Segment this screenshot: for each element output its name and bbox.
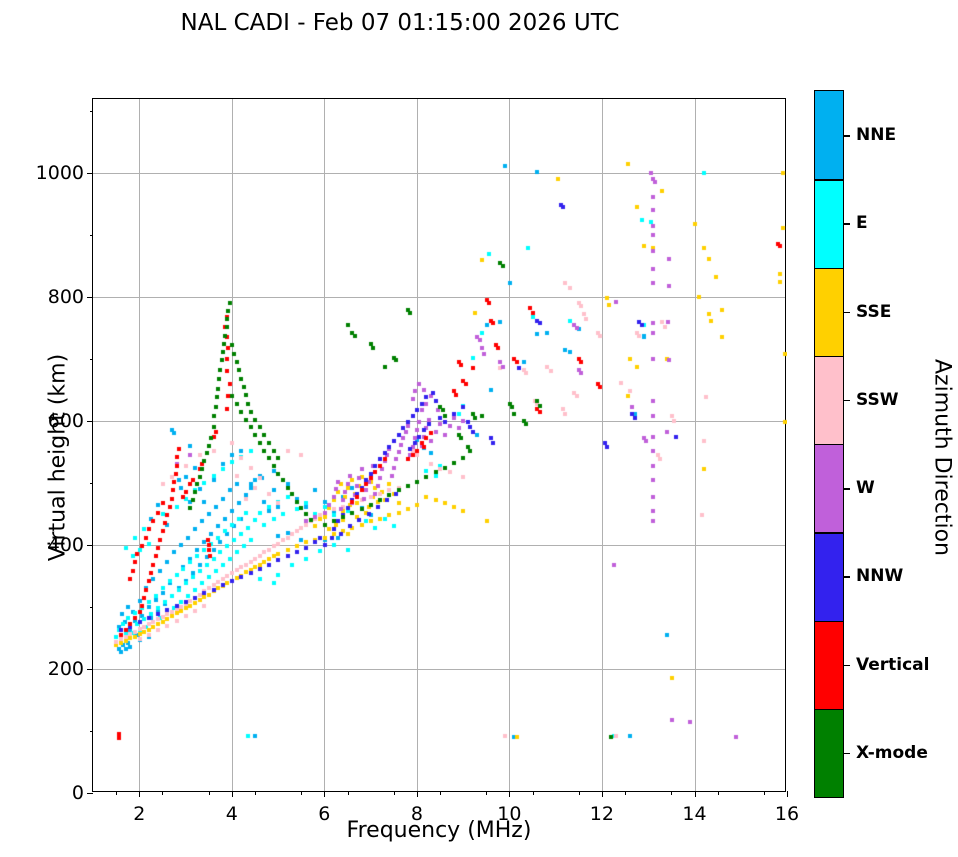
y-tick-label: 800	[48, 286, 84, 308]
x-tick-major	[695, 791, 696, 797]
x-tick-minor	[162, 791, 163, 795]
colorbar-segment-x-mode[interactable]	[815, 709, 843, 797]
colorbar-label-vertical: Vertical	[856, 655, 929, 675]
colorbar-tick	[843, 665, 850, 666]
colorbar-tick	[843, 400, 850, 401]
colorbar-tick	[843, 576, 850, 577]
y-tick-minor	[90, 607, 94, 608]
colorbar-label-ssw: SSW	[856, 390, 898, 410]
y-tick-minor	[90, 111, 94, 112]
x-tick-major	[232, 791, 233, 797]
colorbar-tick	[843, 312, 850, 313]
x-tick-minor	[579, 791, 580, 795]
colorbar-label-w: W	[856, 478, 875, 498]
colorbar-segment-sse[interactable]	[815, 268, 843, 356]
y-tick-major	[87, 793, 93, 794]
x-axis-label: Frequency (MHz)	[92, 818, 786, 843]
x-tick-minor	[255, 791, 256, 795]
ionogram-scatter-canvas	[93, 99, 787, 793]
plot-area[interactable]: 24681012141602004006008001000	[92, 98, 786, 792]
colorbar-segment-nnw[interactable]	[815, 532, 843, 620]
x-tick-major	[417, 791, 418, 797]
y-tick-major	[87, 173, 93, 174]
y-tick-label: 1000	[36, 162, 84, 184]
colorbar-segment-ssw[interactable]	[815, 356, 843, 444]
colorbar-tick	[843, 753, 850, 754]
y-tick-label: 0	[72, 782, 84, 804]
colorbar-segment-e[interactable]	[815, 179, 843, 267]
colorbar-divider	[815, 532, 843, 533]
colorbar-divider	[815, 709, 843, 710]
colorbar-divider	[815, 621, 843, 622]
ionogram-figure: NAL CADI - Feb 07 01:15:00 2026 UTC 2468…	[0, 0, 958, 857]
colorbar-label-sse: SSE	[856, 302, 891, 322]
x-tick-minor	[671, 791, 672, 795]
x-tick-minor	[718, 791, 719, 795]
y-tick-major	[87, 545, 93, 546]
x-tick-minor	[625, 791, 626, 795]
x-tick-minor	[394, 791, 395, 795]
x-tick-major	[509, 791, 510, 797]
y-tick-label: 200	[48, 658, 84, 680]
y-tick-minor	[90, 731, 94, 732]
x-tick-minor	[764, 791, 765, 795]
x-tick-major	[324, 791, 325, 797]
y-tick-minor	[90, 359, 94, 360]
x-tick-minor	[301, 791, 302, 795]
colorbar-title: Azimuth Direction	[930, 298, 955, 618]
colorbar-segment-nne[interactable]	[815, 91, 843, 179]
x-tick-major	[139, 791, 140, 797]
colorbar-divider	[815, 444, 843, 445]
y-tick-minor	[90, 235, 94, 236]
colorbar-tick	[843, 223, 850, 224]
colorbar-label-e: E	[856, 213, 868, 233]
x-tick-minor	[116, 791, 117, 795]
page-title: NAL CADI - Feb 07 01:15:00 2026 UTC	[0, 10, 800, 36]
colorbar-divider	[815, 179, 843, 180]
x-tick-minor	[486, 791, 487, 795]
colorbar[interactable]: NNEESSESSWWNNWVerticalX-mode	[814, 90, 844, 798]
y-axis-label: Virtual height (km)	[46, 308, 71, 608]
colorbar-label-nne: NNE	[856, 125, 896, 145]
x-tick-minor	[440, 791, 441, 795]
x-tick-major	[602, 791, 603, 797]
x-tick-minor	[348, 791, 349, 795]
colorbar-segment-vertical[interactable]	[815, 621, 843, 709]
y-tick-major	[87, 421, 93, 422]
x-tick-minor	[533, 791, 534, 795]
x-tick-major	[787, 791, 788, 797]
colorbar-segment-w[interactable]	[815, 444, 843, 532]
colorbar-label-x-mode: X-mode	[856, 743, 928, 763]
y-tick-minor	[90, 483, 94, 484]
y-tick-major	[87, 297, 93, 298]
x-tick-minor	[209, 791, 210, 795]
colorbar-tick	[843, 135, 850, 136]
y-tick-major	[87, 669, 93, 670]
colorbar-divider	[815, 356, 843, 357]
colorbar-divider	[815, 268, 843, 269]
colorbar-tick	[843, 488, 850, 489]
colorbar-label-nnw: NNW	[856, 566, 903, 586]
